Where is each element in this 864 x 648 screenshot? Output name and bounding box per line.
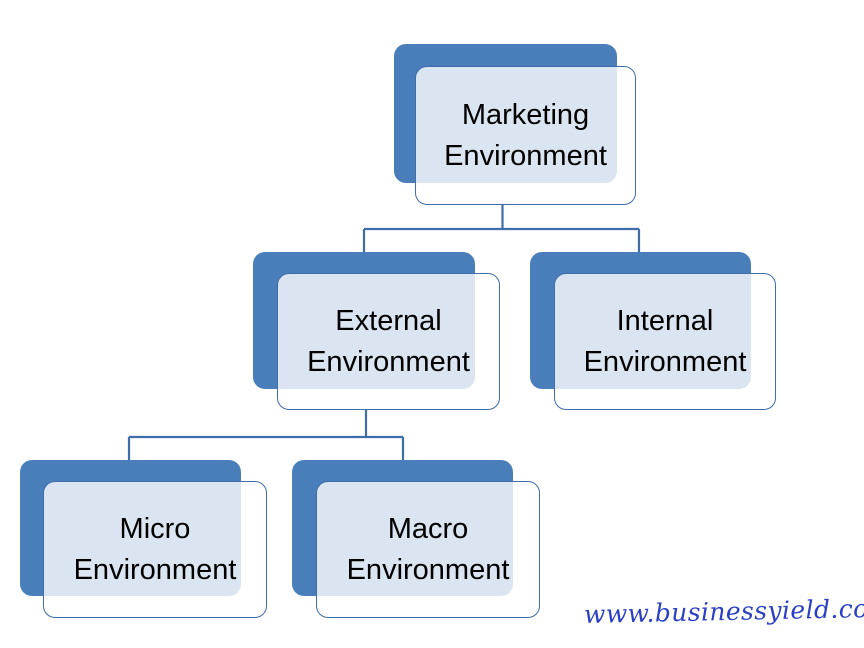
node-micro-environment[interactable]: Micro Environment: [20, 460, 267, 618]
node-external-environment[interactable]: External Environment: [253, 252, 500, 410]
connector-marketing-to-children: [364, 205, 639, 253]
org-chart-diagram: Marketing Environment External Environme…: [0, 0, 864, 648]
node-card: [277, 273, 500, 410]
connector-external-to-children: [129, 410, 403, 461]
node-macro-environment[interactable]: Macro Environment: [292, 460, 540, 618]
node-card: [316, 481, 540, 618]
node-card: [554, 273, 776, 410]
node-card: [43, 481, 267, 618]
connector-path-marketing: [364, 205, 639, 253]
node-card: [415, 66, 636, 205]
node-internal-environment[interactable]: Internal Environment: [530, 252, 776, 410]
node-marketing-environment[interactable]: Marketing Environment: [394, 44, 636, 205]
watermark-url: www.businessyield.com: [584, 594, 864, 629]
connector-path-external: [129, 410, 403, 461]
